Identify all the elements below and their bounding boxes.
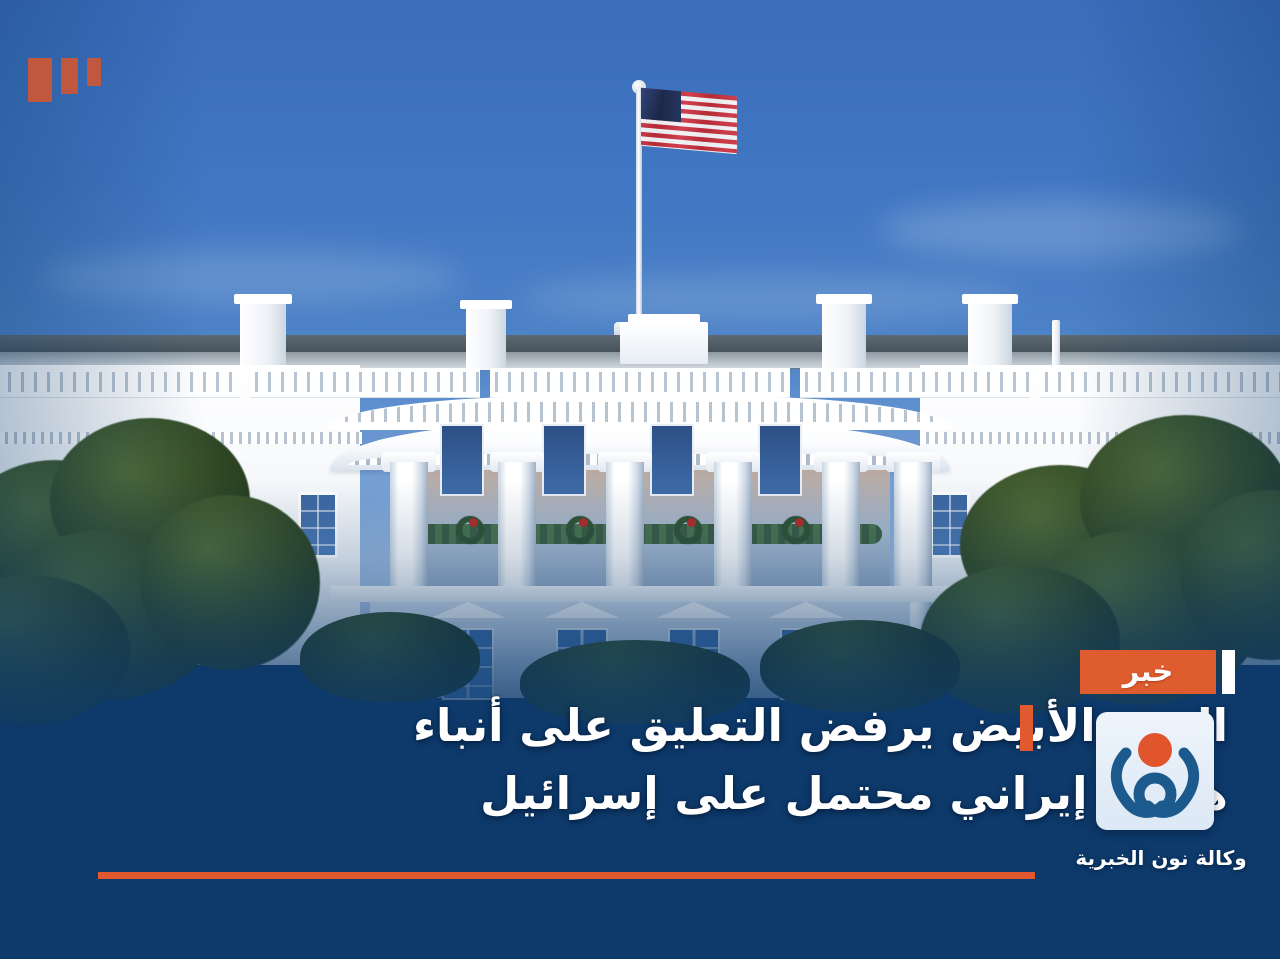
headline-line-1: البيت الأبيض يرفض التعليق على أنباء (268, 694, 1228, 758)
watermark-bar-2 (61, 58, 78, 94)
noon-logo-icon (1096, 712, 1214, 830)
headline: البيت الأبيض يرفض التعليق على أنباء هجوم… (268, 694, 1228, 826)
agency-name: وكالة نون الخبرية (1056, 846, 1266, 870)
brand-block: خبر وكالة نون الخبرية (1056, 650, 1266, 694)
headline-divider-rule (98, 872, 1035, 879)
news-badge: خبر (1080, 650, 1216, 694)
news-badge-tick (1222, 650, 1235, 694)
headline-line-2: هجوم إيراني محتمل على إسرائيل (268, 762, 1228, 826)
watermark-bar-3 (87, 58, 101, 86)
news-badge-label: خبر (1123, 657, 1174, 686)
headline-accent-bar (1020, 705, 1033, 751)
watermark-bar-1 (28, 58, 52, 102)
three-bars-watermark-icon (28, 58, 101, 102)
news-card: البيت الأبيض يرفض التعليق على أنباء هجوم… (0, 0, 1280, 959)
